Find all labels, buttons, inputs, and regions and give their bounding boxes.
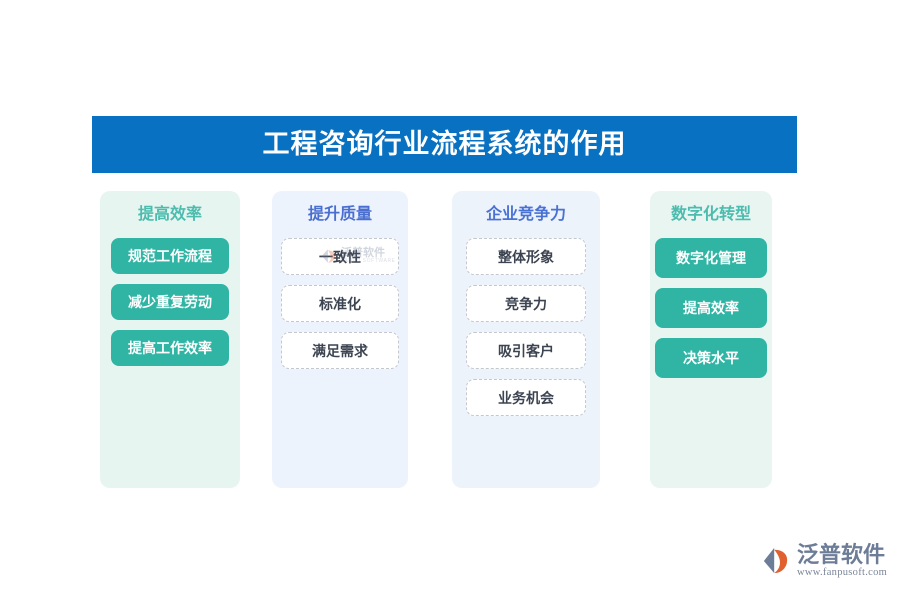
list-item[interactable]: 决策水平 <box>655 338 767 378</box>
title-banner: 工程咨询行业流程系统的作用 <box>92 116 797 173</box>
brand-text: 泛普软件 www.fanpusoft.com <box>797 543 887 578</box>
column-item-list: 数字化管理 提高效率 决策水平 <box>650 238 772 378</box>
list-item[interactable]: 业务机会 <box>466 379 586 416</box>
list-item[interactable]: 标准化 <box>281 285 399 322</box>
column-heading: 提高效率 <box>100 205 240 224</box>
column-item-list: 规范工作流程 减少重复劳动 提高工作效率 <box>100 238 240 366</box>
list-item[interactable]: 减少重复劳动 <box>111 284 229 320</box>
infographic-slide: 工程咨询行业流程系统的作用 提高效率 规范工作流程 减少重复劳动 提高工作效率 … <box>0 0 900 600</box>
fanpu-logo-icon <box>762 545 792 575</box>
list-item[interactable]: 规范工作流程 <box>111 238 229 274</box>
page-title: 工程咨询行业流程系统的作用 <box>263 131 627 158</box>
column-item-list: 整体形象 竞争力 吸引客户 业务机会 <box>452 238 600 416</box>
category-column-competitiveness: 企业竞争力 整体形象 竞争力 吸引客户 业务机会 <box>452 191 600 488</box>
brand-logo: 泛普软件 www.fanpusoft.com <box>762 543 892 589</box>
list-item[interactable]: 整体形象 <box>466 238 586 275</box>
list-item[interactable]: 数字化管理 <box>655 238 767 278</box>
category-column-digital-transformation: 数字化转型 数字化管理 提高效率 决策水平 <box>650 191 772 488</box>
column-heading: 提升质量 <box>272 205 408 224</box>
list-item[interactable]: 提高工作效率 <box>111 330 229 366</box>
column-item-list: 一致性 标准化 满足需求 <box>272 238 408 369</box>
list-item[interactable]: 提高效率 <box>655 288 767 328</box>
brand-url: www.fanpusoft.com <box>797 567 887 578</box>
column-heading: 企业竞争力 <box>452 205 600 224</box>
list-item[interactable]: 满足需求 <box>281 332 399 369</box>
list-item[interactable]: 一致性 <box>281 238 399 275</box>
category-column-quality: 提升质量 一致性 标准化 满足需求 <box>272 191 408 488</box>
category-column-efficiency: 提高效率 规范工作流程 减少重复劳动 提高工作效率 <box>100 191 240 488</box>
list-item[interactable]: 吸引客户 <box>466 332 586 369</box>
category-columns: 提高效率 规范工作流程 减少重复劳动 提高工作效率 提升质量 一致性 标准化 满… <box>100 191 772 488</box>
column-heading: 数字化转型 <box>650 205 772 224</box>
brand-name: 泛普软件 <box>797 543 887 566</box>
list-item[interactable]: 竞争力 <box>466 285 586 322</box>
